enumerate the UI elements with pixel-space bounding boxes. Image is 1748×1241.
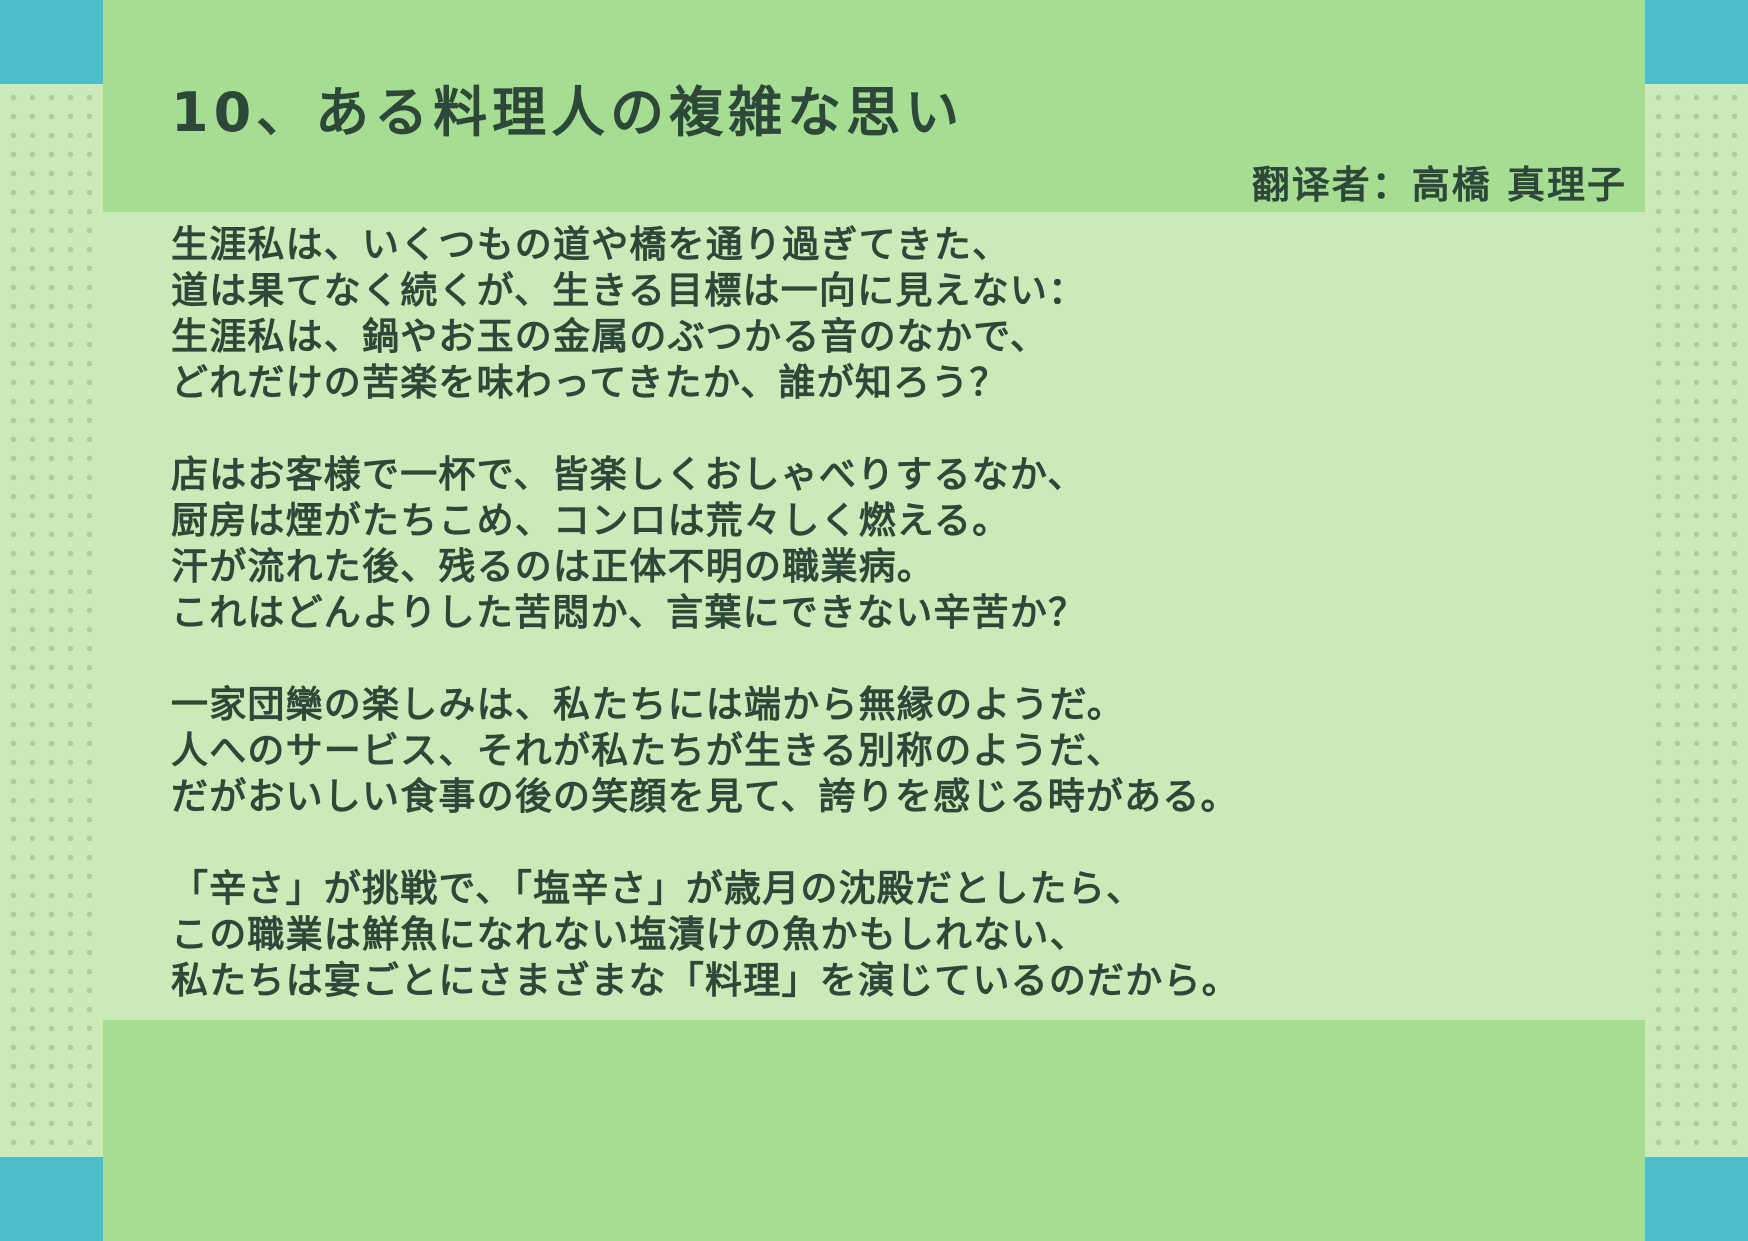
poem-line: どれだけの苦楽を味わってきたか、誰が知ろう？: [171, 360, 1625, 406]
decorative-dot-band-right: [1645, 84, 1748, 1157]
poem-stanza: 店はお客様で一杯で、皆楽しくおしゃべりするなか、 厨房は煙がたちこめ、コンロは荒…: [171, 452, 1625, 636]
footer-band: [103, 1020, 1645, 1241]
poem-line: 生涯私は、いくつもの道や橋を通り過ぎてきた、: [171, 222, 1625, 268]
poem-line: 私たちは宴ごとにさまざまな「料理」を演じているのだから。: [171, 958, 1625, 1004]
corner-accent-bottom-left: [0, 1157, 103, 1241]
decorative-dot-band-left: [0, 84, 103, 1157]
poem-line: 厨房は煙がたちこめ、コンロは荒々しく燃える。: [171, 498, 1625, 544]
poem-stanza: 「辛さ」が挑戦で、「塩辛さ」が歳月の沈殿だとしたら、 この職業は鮮魚になれない塩…: [171, 866, 1625, 1004]
poem-stanza: 生涯私は、いくつもの道や橋を通り過ぎてきた、 道は果てなく続くが、生きる目標は一…: [171, 222, 1625, 406]
corner-accent-bottom-right: [1645, 1157, 1748, 1241]
poem-line: 一家団欒の楽しみは、私たちには端から無縁のようだ。: [171, 682, 1625, 728]
poem-line: 店はお客様で一杯で、皆楽しくおしゃべりするなか、: [171, 452, 1625, 498]
poem-line: だがおいしい食事の後の笑顔を見て、誇りを感じる時がある。: [171, 774, 1625, 820]
poem-line: 汗が流れた後、残るのは正体不明の職業病。: [171, 544, 1625, 590]
slide-root: 10、ある料理人の複雑な思い 翻译者：高橋 真理子 生涯私は、いくつもの道や橋を…: [0, 0, 1748, 1241]
translator-credit: 翻译者：高橋 真理子: [1252, 163, 1627, 209]
poem-line: 人へのサービス、それが私たちが生きる別称のようだ、: [171, 728, 1625, 774]
poem-line: 「辛さ」が挑戦で、「塩辛さ」が歳月の沈殿だとしたら、: [171, 866, 1625, 912]
poem-text: 生涯私は、いくつもの道や橋を通り過ぎてきた、 道は果てなく続くが、生きる目標は一…: [171, 222, 1625, 1004]
header-band: 10、ある料理人の複雑な思い 翻译者：高橋 真理子: [103, 0, 1645, 212]
corner-accent-top-left: [0, 0, 103, 84]
poem-line: これはどんよりした苦悶か、言葉にできない辛苦か？: [171, 590, 1625, 636]
poem-line: 生涯私は、鍋やお玉の金属のぶつかる音のなかで、: [171, 314, 1625, 360]
poem-body-panel: 生涯私は、いくつもの道や橋を通り過ぎてきた、 道は果てなく続くが、生きる目標は一…: [103, 212, 1645, 1020]
poem-line: 道は果てなく続くが、生きる目標は一向に見えない：: [171, 268, 1625, 314]
page-title: 10、ある料理人の複雑な思い: [171, 86, 964, 140]
poem-line: この職業は鮮魚になれない塩漬けの魚かもしれない、: [171, 912, 1625, 958]
poem-stanza: 一家団欒の楽しみは、私たちには端から無縁のようだ。 人へのサービス、それが私たち…: [171, 682, 1625, 820]
corner-accent-top-right: [1645, 0, 1748, 84]
